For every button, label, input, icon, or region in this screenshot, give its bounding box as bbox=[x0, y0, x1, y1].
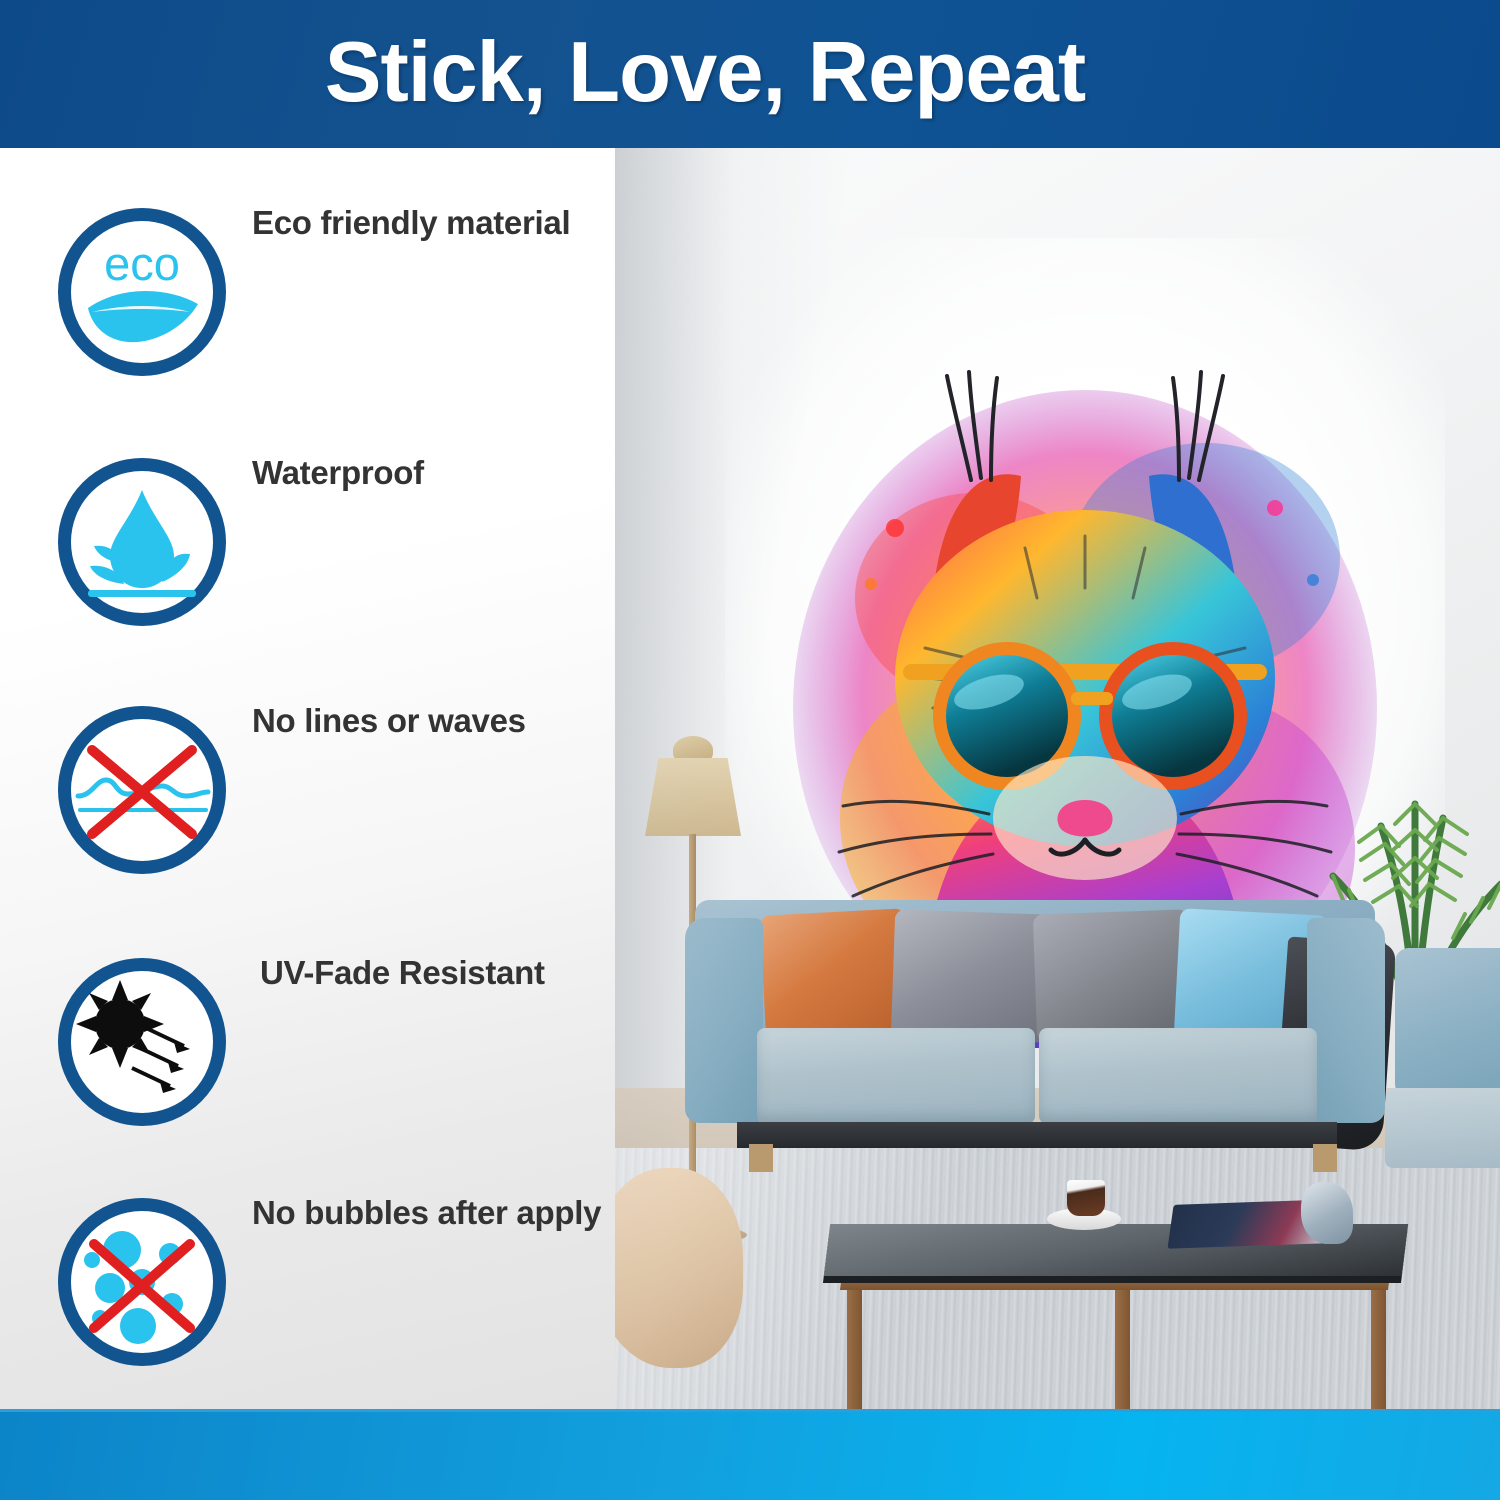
second-sofa-back bbox=[1395, 948, 1500, 1098]
sofa-arm-right bbox=[1307, 918, 1385, 1123]
table-rail bbox=[840, 1274, 1390, 1290]
header-banner: Stick, Love, Repeat bbox=[0, 0, 1500, 148]
features-panel: eco Eco friendly material Waterproof bbox=[0, 148, 615, 1412]
table-leg-left bbox=[847, 1274, 862, 1412]
no-bubbles-icon bbox=[58, 1198, 226, 1366]
feature-item-eco-friendly: eco Eco friendly material bbox=[58, 198, 603, 373]
feature-item-uv-fade-resistant: UV-Fade Resistant bbox=[58, 948, 603, 1123]
feature-label: No bubbles after apply bbox=[252, 1194, 612, 1232]
orange-pillow bbox=[760, 908, 912, 1043]
page-title: Stick, Love, Repeat bbox=[325, 30, 1085, 115]
no-waves-icon bbox=[58, 706, 226, 874]
blue-sofa bbox=[685, 900, 1385, 1160]
second-sofa-seat bbox=[1385, 1088, 1500, 1168]
sun-rays-icon bbox=[58, 958, 226, 1126]
water-drop-icon bbox=[58, 458, 226, 626]
table-leg-right bbox=[1371, 1274, 1386, 1412]
grey-pillow-right bbox=[1033, 909, 1192, 1042]
sofa-cushion-left bbox=[757, 1028, 1035, 1124]
feature-item-waterproof: Waterproof bbox=[58, 448, 603, 623]
magazine-curled-page bbox=[1301, 1182, 1353, 1244]
lamp-shade bbox=[645, 758, 741, 836]
table-leg-middle bbox=[1115, 1274, 1130, 1412]
beige-pouf bbox=[615, 1168, 743, 1368]
grey-pillow-left bbox=[891, 909, 1050, 1042]
feature-item-no-lines-or-waves: No lines or waves bbox=[58, 696, 603, 871]
feature-label: Eco friendly material bbox=[252, 204, 612, 242]
sofa-leg-left bbox=[749, 1144, 773, 1172]
svg-text:eco: eco bbox=[104, 237, 180, 290]
sofa-arm-left bbox=[685, 918, 763, 1123]
sofa-cushion-right bbox=[1039, 1028, 1317, 1124]
eco-leaf-icon: eco bbox=[58, 208, 226, 376]
footer-banner bbox=[0, 1409, 1500, 1500]
living-room-mockup-photo bbox=[615, 148, 1500, 1412]
coffee-cup bbox=[1067, 1180, 1105, 1216]
feature-label: UV-Fade Resistant bbox=[260, 954, 620, 992]
feature-label: No lines or waves bbox=[252, 702, 612, 740]
second-sofa bbox=[1385, 948, 1500, 1188]
feature-label: Waterproof bbox=[252, 454, 612, 492]
sofa-leg-right bbox=[1313, 1144, 1337, 1172]
sofa-base-shadow bbox=[737, 1122, 1337, 1148]
feature-item-no-bubbles-after-apply: No bubbles after apply bbox=[58, 1188, 603, 1363]
product-infographic: Stick, Love, Repeat eco Eco friendly mat… bbox=[0, 0, 1500, 1500]
